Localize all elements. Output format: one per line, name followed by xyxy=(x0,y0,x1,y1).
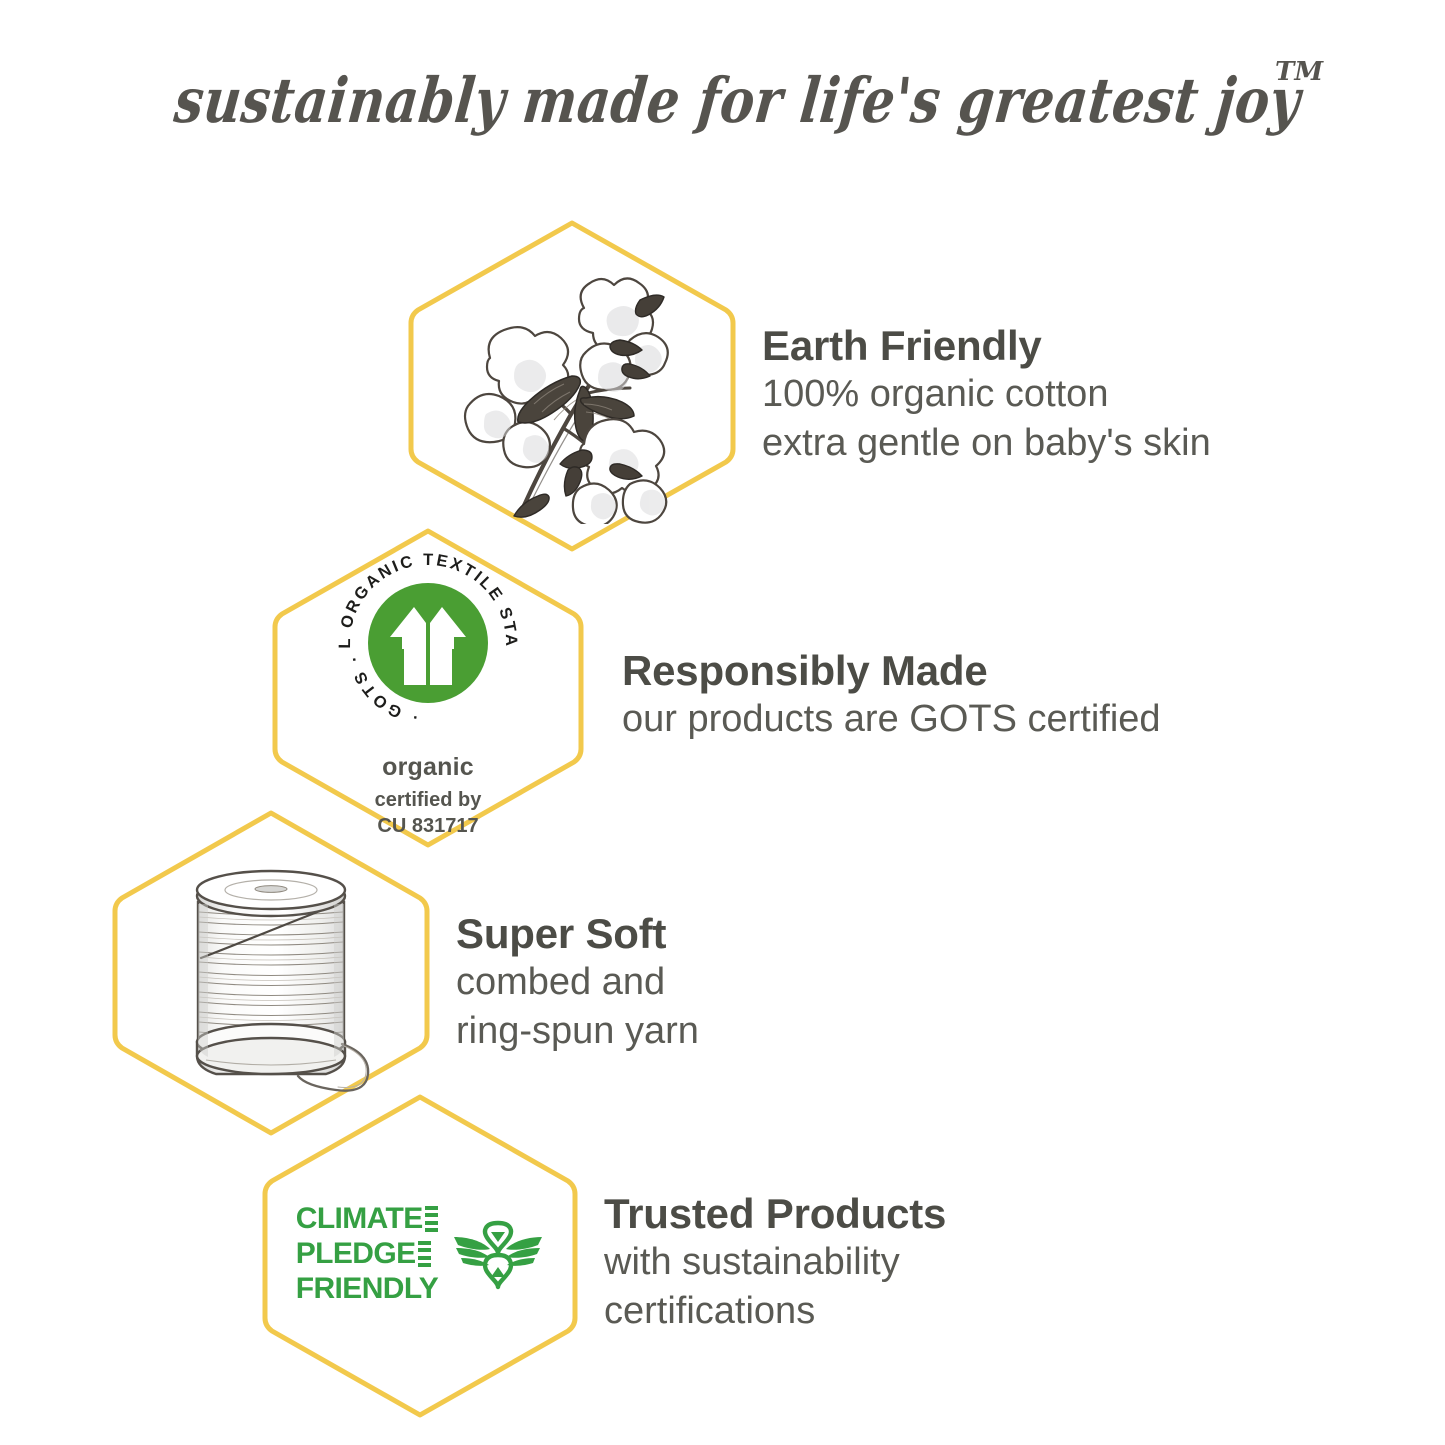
cotton-boll-sketch-icon xyxy=(404,216,740,556)
feature-text-responsibly-made: Responsibly Made our products are GOTS c… xyxy=(622,646,1161,744)
hexagon-tile-responsibly-made: GLOBAL ORGANIC TEXTILE STANDARD · GOTS ·… xyxy=(268,524,588,852)
cpf-bars-icon xyxy=(418,1241,431,1267)
gots-seal-icon: GLOBAL ORGANIC TEXTILE STANDARD · GOTS · xyxy=(330,545,526,741)
gots-green-disc xyxy=(368,583,488,703)
feature-text-super-soft: Super Soft combed and ring-spun yarn xyxy=(456,909,699,1056)
feature-description: combed and ring-spun yarn xyxy=(456,958,699,1055)
feature-desc-line: 100% organic cotton xyxy=(762,370,1211,419)
feature-text-earth-friendly: Earth Friendly 100% organic cotton extra… xyxy=(762,321,1211,468)
feature-title: Responsibly Made xyxy=(622,646,1161,696)
feature-desc-line: certifications xyxy=(604,1287,946,1336)
feature-desc-line: combed and xyxy=(456,958,699,1007)
feature-description: with sustainability certifications xyxy=(604,1238,946,1335)
feature-row-earth-friendly: Earth Friendly 100% organic cotton extra… xyxy=(404,216,1211,556)
feature-desc-line: our products are GOTS certified xyxy=(622,695,1161,744)
feature-description: 100% organic cotton extra gentle on baby… xyxy=(762,370,1211,467)
cpf-word-pledge: PLEDGE xyxy=(296,1239,416,1269)
headline-script-text: sustainably made for life's greatest joy xyxy=(170,64,1306,137)
cpf-winged-hourglass-icon xyxy=(452,1217,544,1291)
hexagon-tile-trusted-products: CLIMATE PLEDGE FRIENDLY xyxy=(258,1090,582,1422)
feature-title: Earth Friendly xyxy=(762,321,1211,371)
hexagon-tile-earth-friendly xyxy=(404,216,740,556)
infographic-canvas: sustainably made for life's greatest joy… xyxy=(0,0,1445,1445)
climate-pledge-friendly-icon: CLIMATE PLEDGE FRIENDLY xyxy=(258,1090,582,1422)
feature-description: our products are GOTS certified xyxy=(622,695,1161,744)
feature-row-trusted-products: CLIMATE PLEDGE FRIENDLY xyxy=(258,1090,946,1422)
feature-title: Trusted Products xyxy=(604,1189,946,1239)
feature-desc-line: extra gentle on baby's skin xyxy=(762,419,1211,468)
cpf-word-climate: CLIMATE xyxy=(296,1204,423,1234)
cpf-bars-icon xyxy=(425,1206,438,1232)
feature-title: Super Soft xyxy=(456,909,699,959)
gots-caption-organic: organic xyxy=(382,753,474,782)
feature-desc-line: with sustainability xyxy=(604,1238,946,1287)
page-headline: sustainably made for life's greatest joy… xyxy=(0,44,1445,154)
feature-row-responsibly-made: GLOBAL ORGANIC TEXTILE STANDARD · GOTS ·… xyxy=(268,524,1161,852)
feature-text-trusted-products: Trusted Products with sustainability cer… xyxy=(604,1189,946,1336)
feature-desc-line: ring-spun yarn xyxy=(456,1007,699,1056)
trademark-mark: TM xyxy=(1275,57,1324,87)
cpf-wordmark: CLIMATE PLEDGE FRIENDLY xyxy=(296,1204,438,1304)
gots-certification-icon: GLOBAL ORGANIC TEXTILE STANDARD · GOTS ·… xyxy=(268,524,588,852)
cpf-word-friendly: FRIENDLY xyxy=(296,1274,438,1304)
